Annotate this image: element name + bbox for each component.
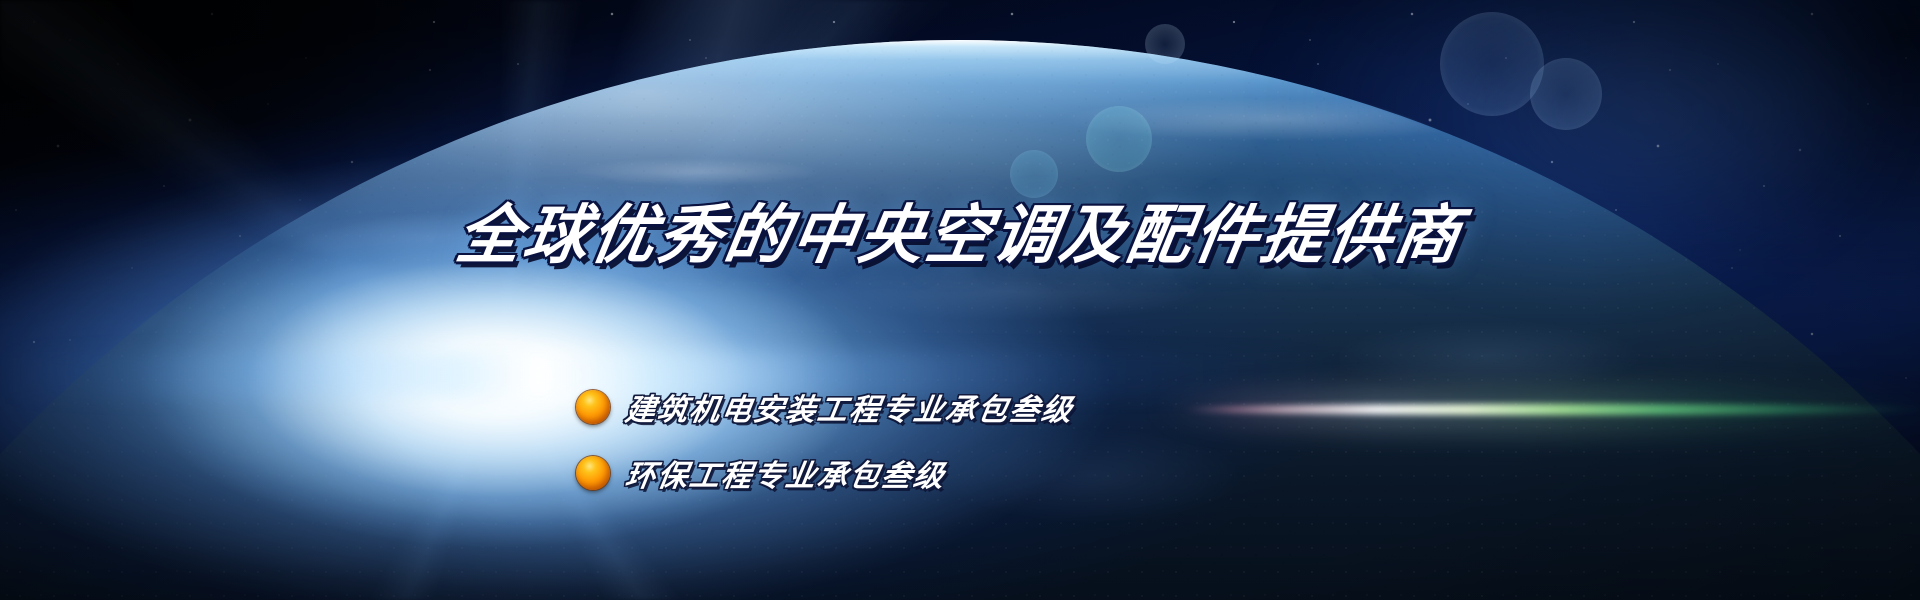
list-item-label: 环保工程专业承包叁级 [623,451,950,495]
list-item: 建筑机电安装工程专业承包叁级 [576,385,1074,429]
list-item-label: 建筑机电安装工程专业承包叁级 [623,385,1078,429]
hero-banner: 全球优秀的中央空调及配件提供商 建筑机电安装工程专业承包叁级 环保工程专业承包叁… [0,0,1920,600]
banner-content: 全球优秀的中央空调及配件提供商 建筑机电安装工程专业承包叁级 环保工程专业承包叁… [0,0,1920,600]
orange-dot-icon [576,456,610,490]
feature-list: 建筑机电安装工程专业承包叁级 环保工程专业承包叁级 [576,385,1074,495]
list-item: 环保工程专业承包叁级 [576,451,1074,495]
orange-dot-icon [576,390,610,424]
page-title: 全球优秀的中央空调及配件提供商 [0,203,1920,267]
